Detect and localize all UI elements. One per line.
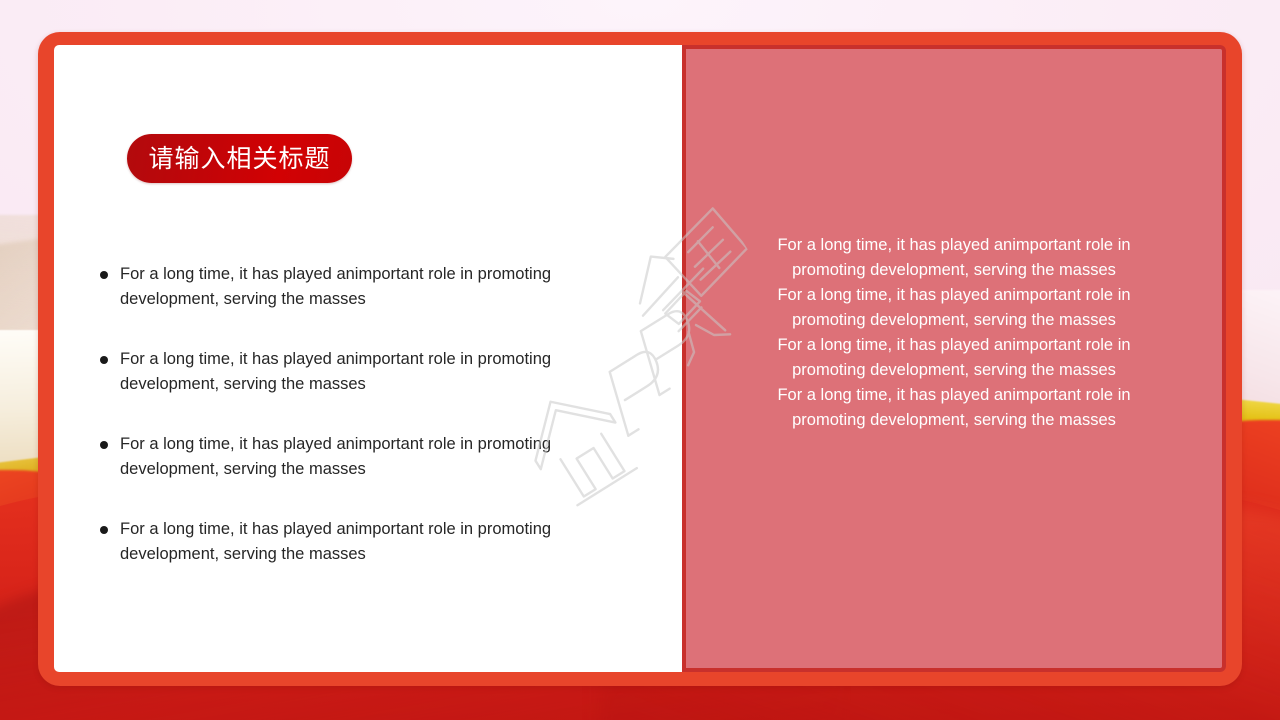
list-item: For a long time, it has played animporta… — [100, 347, 620, 397]
bullet-list: For a long time, it has played animporta… — [100, 262, 620, 602]
bullet-dot-icon — [100, 271, 108, 279]
list-item: For a long time, it has played animporta… — [100, 262, 620, 312]
list-item: For a long time, it has played animporta… — [100, 517, 620, 567]
right-paragraph: For a long time, it has played animporta… — [763, 233, 1145, 283]
bullet-text: For a long time, it has played animporta… — [120, 517, 590, 567]
content-frame-inner: 请输入相关标题 For a long time, it has played a… — [54, 45, 1226, 672]
title-pill-button[interactable]: 请输入相关标题 — [127, 134, 352, 183]
bullet-text: For a long time, it has played animporta… — [120, 432, 590, 482]
right-paragraph: For a long time, it has played animporta… — [763, 283, 1145, 333]
slide-canvas: 请输入相关标题 For a long time, it has played a… — [0, 0, 1280, 720]
bullet-dot-icon — [100, 441, 108, 449]
list-item: For a long time, it has played animporta… — [100, 432, 620, 482]
right-paragraph: For a long time, it has played animporta… — [763, 383, 1145, 433]
right-content-panel: For a long time, it has played animporta… — [682, 45, 1226, 672]
left-content-panel: 请输入相关标题 For a long time, it has played a… — [54, 45, 682, 672]
page-title: 请输入相关标题 — [148, 146, 330, 171]
content-frame: 请输入相关标题 For a long time, it has played a… — [38, 32, 1242, 686]
bullet-dot-icon — [100, 526, 108, 534]
bullet-text: For a long time, it has played animporta… — [120, 262, 590, 312]
right-paragraph: For a long time, it has played animporta… — [763, 333, 1145, 383]
bullet-text: For a long time, it has played animporta… — [120, 347, 590, 397]
bullet-dot-icon — [100, 356, 108, 364]
